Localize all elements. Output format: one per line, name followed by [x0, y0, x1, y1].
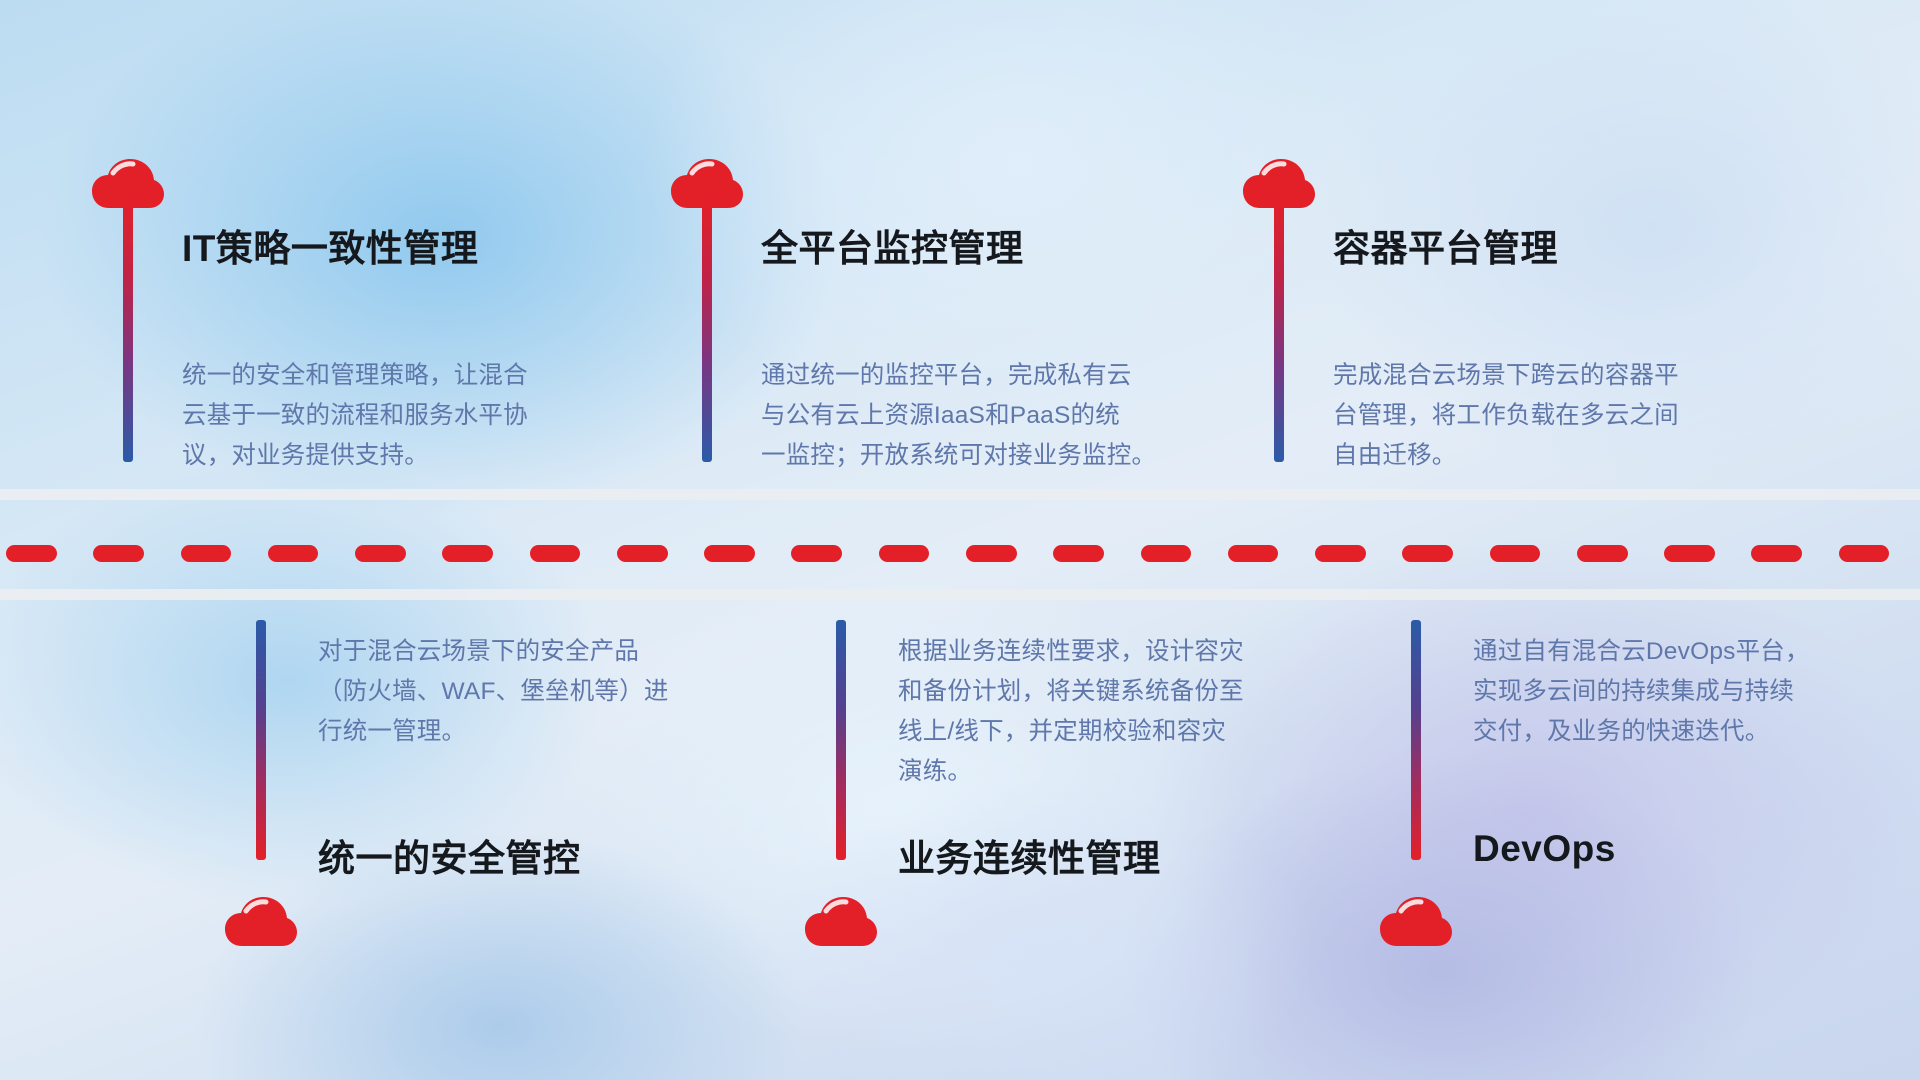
road-edge-line-bottom — [0, 589, 1920, 600]
road-dash — [355, 545, 406, 562]
body-line: 议，对业务提供支持。 — [182, 436, 528, 476]
road-dash — [1402, 545, 1453, 562]
body-line: 根据业务连续性要求，设计容灾 — [898, 632, 1244, 672]
body-line: 和备份计划，将关键系统备份至 — [898, 672, 1244, 712]
body-line: 一监控；开放系统可对接业务监控。 — [761, 436, 1156, 476]
body-line: 线上/线下，并定期校验和容灾 — [898, 712, 1244, 752]
road-dash — [617, 545, 668, 562]
road-dash — [1141, 545, 1192, 562]
body-line: 自由迁移。 — [1333, 436, 1679, 476]
road-dash — [1664, 545, 1715, 562]
card-heading: 统一的安全管控 — [318, 828, 581, 882]
cloud-pin-icon — [1380, 896, 1452, 948]
road-dash — [704, 545, 755, 562]
body-line: 演练。 — [898, 752, 1244, 792]
cloud-pin-icon — [225, 896, 297, 948]
road-dash — [93, 545, 144, 562]
stem-connector — [1274, 200, 1284, 462]
stem-connector — [123, 200, 133, 462]
stem-connector — [1411, 620, 1421, 860]
body-line: 云基于一致的流程和服务水平协 — [182, 396, 528, 436]
road-dash — [442, 545, 493, 562]
road-edge-line-top — [0, 489, 1920, 500]
road-dash — [1053, 545, 1104, 562]
body-line: 交付，及业务的快速迭代。 — [1473, 712, 1810, 752]
body-line: 与公有云上资源IaaS和PaaS的统 — [761, 396, 1156, 436]
card-body: 统一的安全和管理策略，让混合 云基于一致的流程和服务水平协 议，对业务提供支持。 — [182, 356, 528, 476]
road-dash — [530, 545, 581, 562]
road-dash — [181, 545, 232, 562]
card-body: 完成混合云场景下跨云的容器平 台管理，将工作负载在多云之间 自由迁移。 — [1333, 356, 1679, 476]
stem-connector — [702, 200, 712, 462]
body-line: 完成混合云场景下跨云的容器平 — [1333, 356, 1679, 396]
road-dash — [1315, 545, 1366, 562]
stem-connector — [836, 620, 846, 860]
card-body: 通过自有混合云DevOps平台， 实现多云间的持续集成与持续 交付，及业务的快速… — [1473, 632, 1810, 752]
body-line: （防火墙、WAF、堡垒机等）进 — [318, 672, 669, 712]
road-dash — [1577, 545, 1628, 562]
card-body: 通过统一的监控平台，完成私有云 与公有云上资源IaaS和PaaS的统 一监控；开… — [761, 356, 1156, 476]
card-body: 对于混合云场景下的安全产品 （防火墙、WAF、堡垒机等）进 行统一管理。 — [318, 632, 669, 752]
road-dash — [1490, 545, 1541, 562]
card-heading: IT策略一致性管理 — [182, 218, 478, 272]
road-dashed-centerline — [0, 545, 1920, 562]
card-body: 根据业务连续性要求，设计容灾 和备份计划，将关键系统备份至 线上/线下，并定期校… — [898, 632, 1244, 792]
body-line: 通过自有混合云DevOps平台， — [1473, 632, 1810, 672]
road-dash — [1228, 545, 1279, 562]
body-line: 通过统一的监控平台，完成私有云 — [761, 356, 1156, 396]
road-dash — [791, 545, 842, 562]
body-line: 行统一管理。 — [318, 712, 669, 752]
cloud-pin-icon — [805, 896, 877, 948]
card-heading: DevOps — [1473, 828, 1616, 870]
road-dash — [1839, 545, 1890, 562]
road-dash — [879, 545, 930, 562]
card-heading: 业务连续性管理 — [898, 828, 1161, 882]
stem-connector — [256, 620, 266, 860]
body-line: 台管理，将工作负载在多云之间 — [1333, 396, 1679, 436]
road-dash — [1751, 545, 1802, 562]
body-line: 实现多云间的持续集成与持续 — [1473, 672, 1810, 712]
card-heading: 全平台监控管理 — [761, 218, 1024, 272]
road-dash — [966, 545, 1017, 562]
card-heading: 容器平台管理 — [1333, 218, 1558, 272]
road-dash — [268, 545, 319, 562]
infographic-canvas: IT策略一致性管理 统一的安全和管理策略，让混合 云基于一致的流程和服务水平协 … — [0, 0, 1920, 1080]
body-line: 统一的安全和管理策略，让混合 — [182, 356, 528, 396]
body-line: 对于混合云场景下的安全产品 — [318, 632, 669, 672]
road-dash — [6, 545, 57, 562]
